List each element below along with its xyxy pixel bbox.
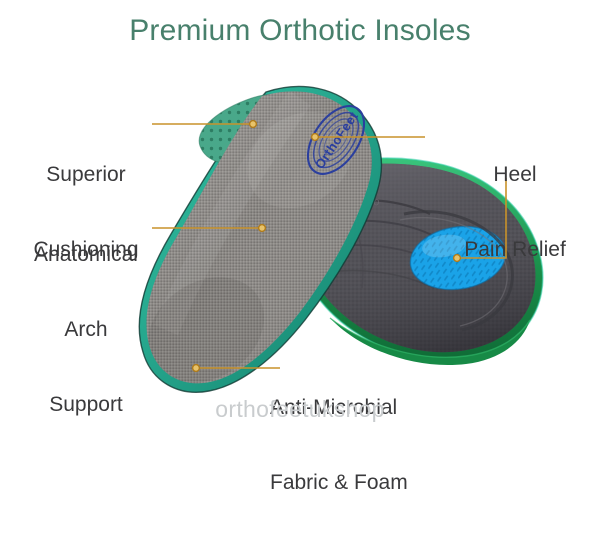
dot-superior-cushioning bbox=[250, 121, 257, 128]
callout-anatomical-arch-support: Anatomical Arch Support bbox=[0, 192, 172, 467]
dot-anatomical-arch bbox=[259, 225, 266, 232]
callout-anti-microbial-fabric-foam: Anti-Microbial Fabric & Foam bbox=[270, 345, 520, 545]
watermark: orthofeetukshop bbox=[0, 396, 600, 423]
dot-heel-logo bbox=[312, 134, 319, 141]
callout-anatomical-arch-line1: Anatomical bbox=[0, 242, 172, 267]
page-title: Premium Orthotic Insoles bbox=[0, 14, 600, 48]
product-infographic: Ortho bbox=[0, 0, 600, 424]
callout-anti-microbial-line2: Fabric & Foam bbox=[270, 470, 520, 495]
callout-anatomical-arch-line2: Arch bbox=[0, 317, 172, 342]
callout-heel-pain-relief: Heel Pain Relief bbox=[430, 112, 600, 312]
dot-anti-microbial bbox=[193, 365, 200, 372]
callout-superior-cushioning-line1: Superior bbox=[0, 162, 172, 187]
callout-heel-pain-relief-line1: Heel bbox=[430, 162, 600, 187]
callout-heel-pain-relief-line2: Pain Relief bbox=[430, 237, 600, 262]
